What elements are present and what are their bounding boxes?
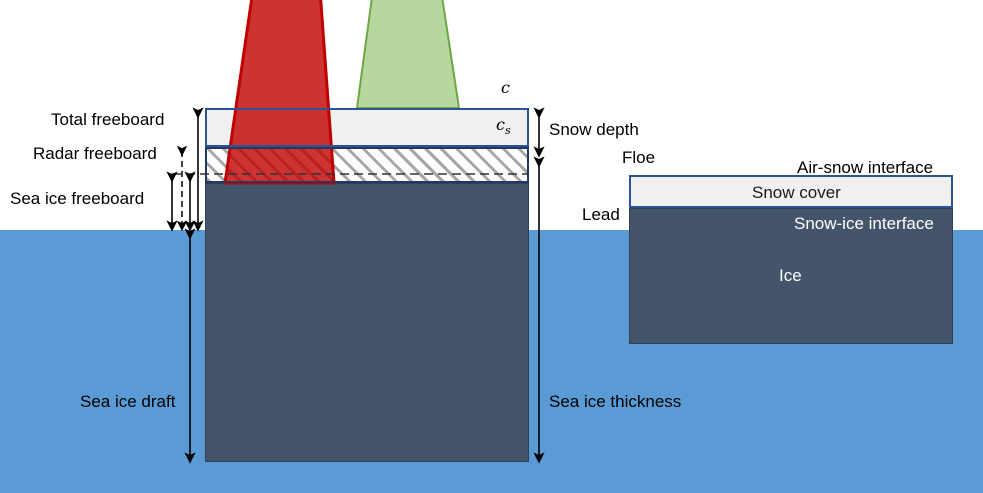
symbol-speed-in-snow-base: c xyxy=(496,115,505,134)
snow-ice-transition-hatched-block xyxy=(205,147,529,183)
label-sea-ice-draft: Sea ice draft xyxy=(80,392,175,412)
label-snow-ice-interface: Snow-ice interface xyxy=(794,214,934,234)
label-air-snow-interface: Air-snow interface xyxy=(797,158,933,178)
label-ice: Ice xyxy=(779,266,802,286)
symbol-speed-of-light: c xyxy=(501,78,510,97)
label-total-freeboard: Total freeboard xyxy=(51,110,164,130)
symbol-speed-in-snow: cs xyxy=(496,115,511,137)
label-snow-depth: Snow depth xyxy=(549,120,639,140)
laser-beam-icon xyxy=(357,0,459,108)
label-sea-ice-freeboard: Sea ice freeboard xyxy=(10,189,144,209)
label-radar-freeboard: Radar freeboard xyxy=(33,144,157,164)
label-sea-ice-thickness: Sea ice thickness xyxy=(549,392,681,412)
label-lead: Lead xyxy=(582,205,620,225)
symbol-speed-in-snow-subscript: s xyxy=(505,124,511,137)
sea-ice-diagram: Total freeboard Radar freeboard Sea ice … xyxy=(0,0,983,493)
main-sea-ice-block xyxy=(205,183,529,462)
snow-layer-block xyxy=(205,108,529,147)
label-floe: Floe xyxy=(622,148,655,168)
label-snow-cover: Snow cover xyxy=(752,183,841,203)
